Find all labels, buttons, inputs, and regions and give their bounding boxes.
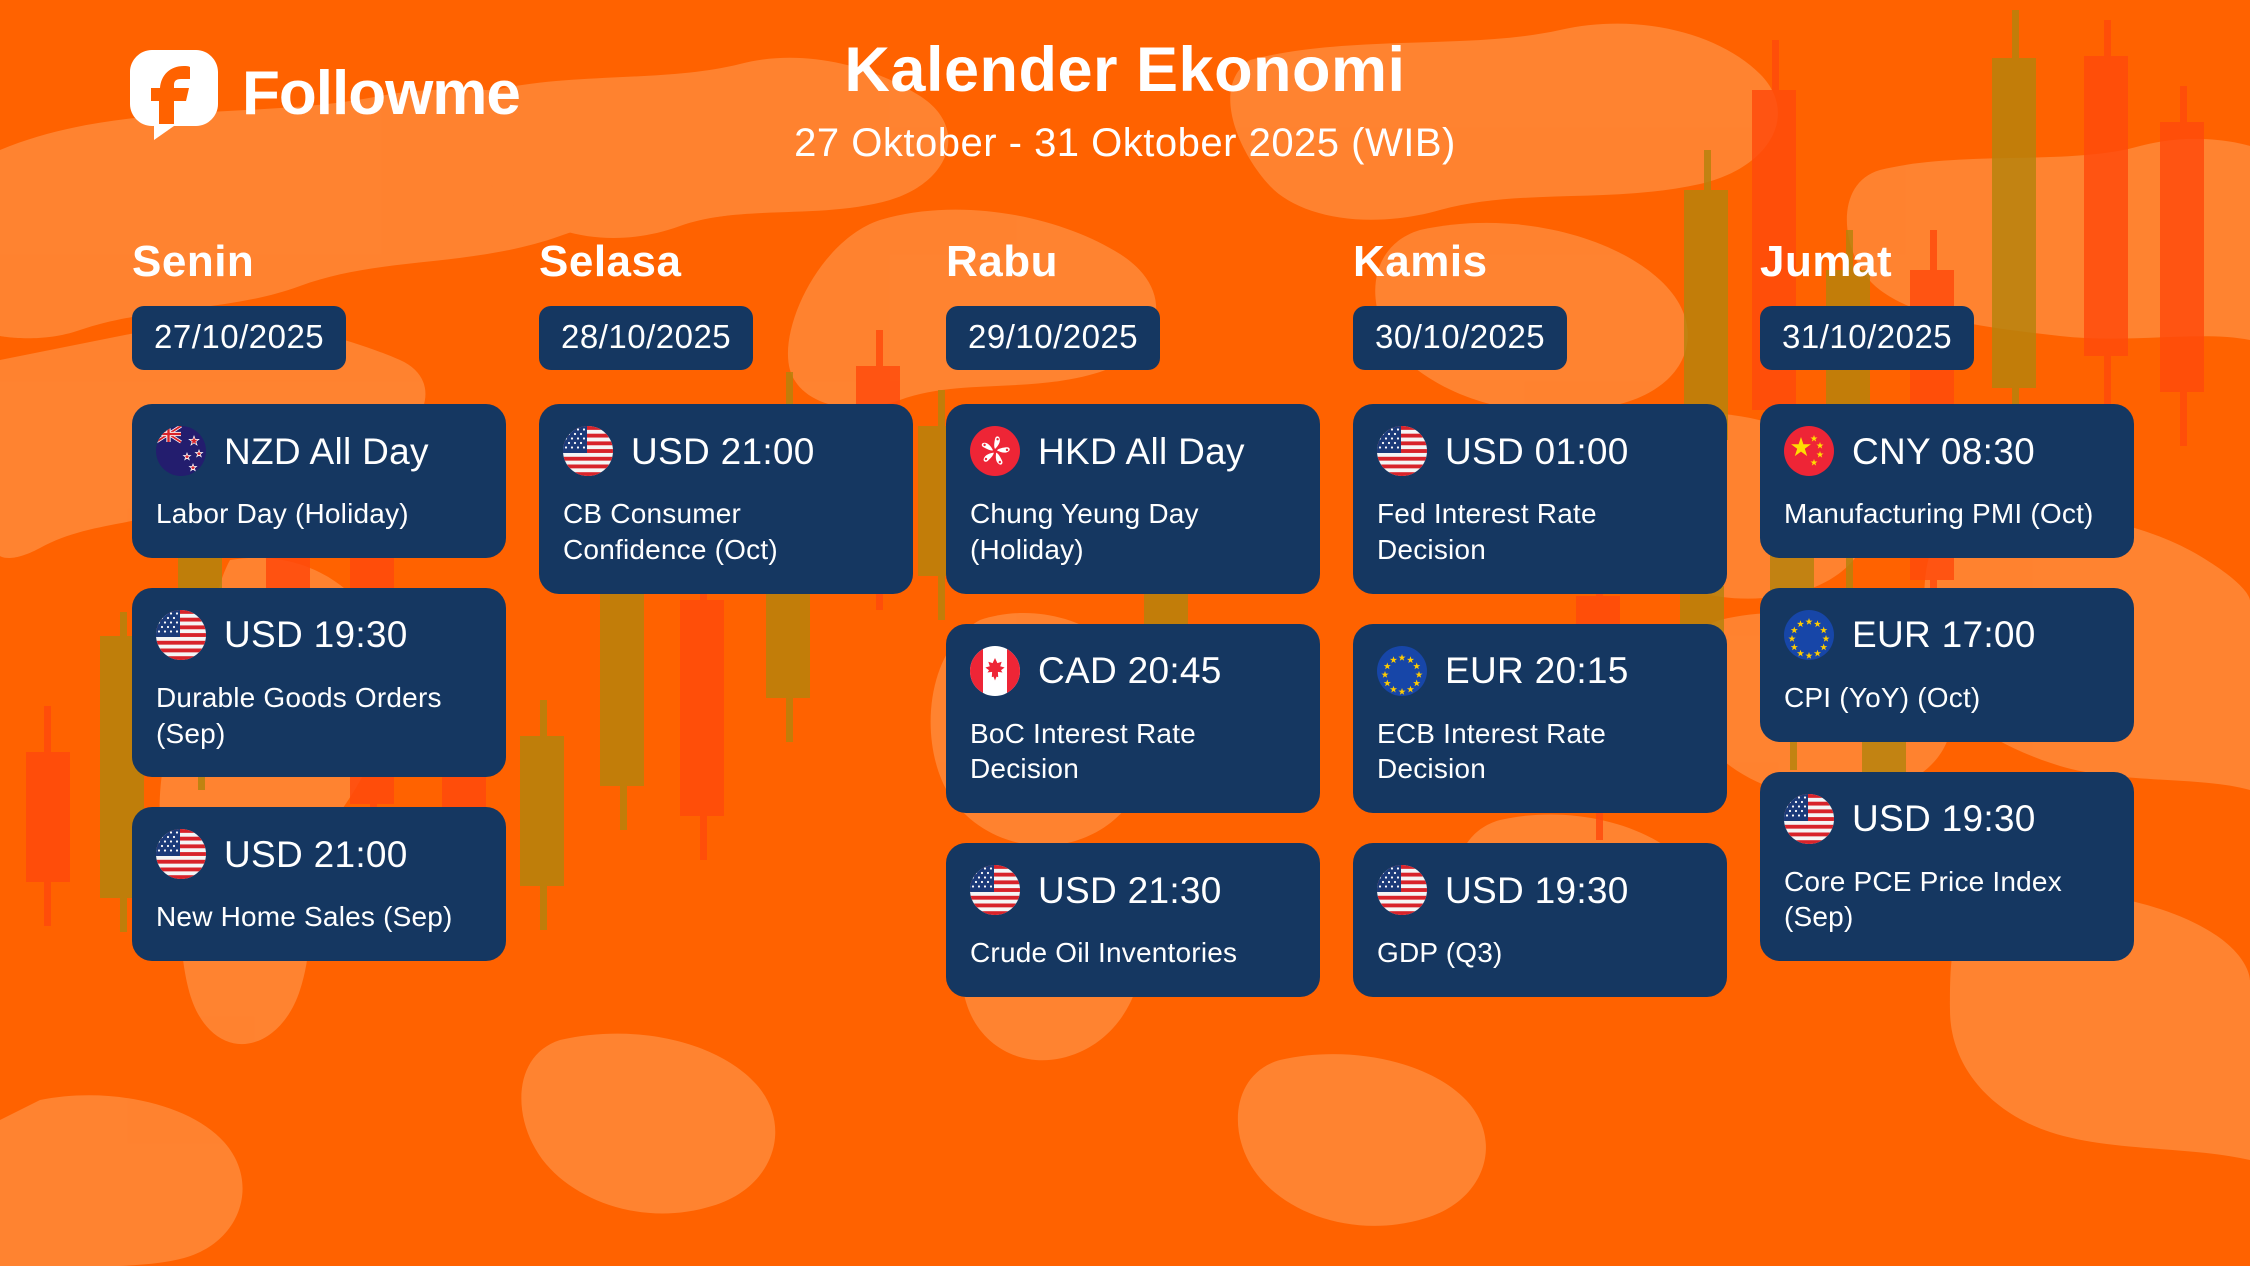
event-currency-time: USD 21:30 [1038, 872, 1222, 909]
event-currency-time: USD 19:30 [1852, 800, 2036, 837]
event-description: ECB Interest Rate Decision [1377, 716, 1703, 788]
event-description: Labor Day (Holiday) [156, 496, 482, 532]
usd-flag-icon [970, 865, 1020, 915]
usd-flag-icon [1377, 865, 1427, 915]
usd-flag-icon [1784, 794, 1834, 844]
day-name: Kamis [1353, 240, 1727, 284]
event-card[interactable]: USD 19:30GDP (Q3) [1353, 843, 1727, 997]
event-currency-time: USD 21:00 [631, 433, 815, 470]
usd-flag-icon [156, 610, 206, 660]
event-currency-time: EUR 20:15 [1445, 652, 1629, 689]
date-pill: 28/10/2025 [539, 306, 753, 370]
date-pill: 31/10/2025 [1760, 306, 1974, 370]
event-currency-time: HKD All Day [1038, 433, 1245, 470]
event-description: Core PCE Price Index (Sep) [1784, 864, 2110, 936]
event-description: Crude Oil Inventories [970, 935, 1296, 971]
event-description: BoC Interest Rate Decision [970, 716, 1296, 788]
event-card-header: USD 21:00 [156, 829, 482, 879]
title-block: Kalender Ekonomi 27 Oktober - 31 Oktober… [0, 36, 2250, 166]
event-currency-time: CNY 08:30 [1852, 433, 2035, 470]
day-name: Rabu [946, 240, 1320, 284]
event-description: CPI (YoY) (Oct) [1784, 680, 2110, 716]
event-card[interactable]: EUR 17:00CPI (YoY) (Oct) [1760, 588, 2134, 742]
event-card[interactable]: USD 01:00Fed Interest Rate Decision [1353, 404, 1727, 594]
event-card-header: USD 19:30 [1377, 865, 1703, 915]
eur-flag-icon [1377, 646, 1427, 696]
event-description: CB Consumer Confidence (Oct) [563, 496, 889, 568]
event-description: Chung Yeung Day (Holiday) [970, 496, 1296, 568]
event-card-header: EUR 20:15 [1377, 646, 1703, 696]
event-description: Manufacturing PMI (Oct) [1784, 496, 2110, 532]
day-name: Jumat [1760, 240, 2134, 284]
date-pill: 30/10/2025 [1353, 306, 1567, 370]
event-card[interactable]: CNY 08:30Manufacturing PMI (Oct) [1760, 404, 2134, 558]
date-pill: 29/10/2025 [946, 306, 1160, 370]
event-card[interactable]: USD 21:00New Home Sales (Sep) [132, 807, 506, 961]
day-column-selasa: Selasa28/10/2025USD 21:00CB Consumer Con… [539, 240, 913, 997]
event-card[interactable]: HKD All DayChung Yeung Day (Holiday) [946, 404, 1320, 594]
event-currency-time: NZD All Day [224, 433, 429, 470]
cny-flag-icon [1784, 426, 1834, 476]
event-card-list: USD 01:00Fed Interest Rate DecisionEUR 2… [1353, 404, 1727, 997]
day-name: Senin [132, 240, 506, 284]
day-column-jumat: Jumat31/10/2025CNY 08:30Manufacturing PM… [1760, 240, 2134, 997]
event-card-header: USD 21:30 [970, 865, 1296, 915]
event-card-header: CNY 08:30 [1784, 426, 2110, 476]
event-card-list: HKD All DayChung Yeung Day (Holiday)CAD … [946, 404, 1320, 997]
event-currency-time: USD 21:00 [224, 836, 408, 873]
event-description: Durable Goods Orders (Sep) [156, 680, 482, 752]
event-card[interactable]: EUR 20:15ECB Interest Rate Decision [1353, 624, 1727, 814]
event-card-list: NZD All DayLabor Day (Holiday)USD 19:30D… [132, 404, 506, 961]
event-card[interactable]: USD 21:30Crude Oil Inventories [946, 843, 1320, 997]
event-card[interactable]: USD 21:00CB Consumer Confidence (Oct) [539, 404, 913, 594]
usd-flag-icon [156, 829, 206, 879]
event-card[interactable]: CAD 20:45BoC Interest Rate Decision [946, 624, 1320, 814]
event-card[interactable]: USD 19:30Core PCE Price Index (Sep) [1760, 772, 2134, 962]
event-card-header: USD 19:30 [1784, 794, 2110, 844]
event-card-header: EUR 17:00 [1784, 610, 2110, 660]
event-currency-time: USD 01:00 [1445, 433, 1629, 470]
day-column-rabu: Rabu29/10/2025HKD All DayChung Yeung Day… [946, 240, 1320, 997]
date-pill: 27/10/2025 [132, 306, 346, 370]
hkd-flag-icon [970, 426, 1020, 476]
event-description: New Home Sales (Sep) [156, 899, 482, 935]
event-description: GDP (Q3) [1377, 935, 1703, 971]
event-card[interactable]: NZD All DayLabor Day (Holiday) [132, 404, 506, 558]
page-header: Followme Kalender Ekonomi 27 Oktober - 3… [0, 0, 2250, 240]
week-grid: Senin27/10/2025NZD All DayLabor Day (Hol… [0, 240, 2250, 997]
page-title: Kalender Ekonomi [0, 36, 2250, 105]
day-name: Selasa [539, 240, 913, 284]
eur-flag-icon [1784, 610, 1834, 660]
cad-flag-icon [970, 646, 1020, 696]
event-card-header: USD 01:00 [1377, 426, 1703, 476]
event-card-list: USD 21:00CB Consumer Confidence (Oct) [539, 404, 913, 594]
event-currency-time: EUR 17:00 [1852, 616, 2036, 653]
page-subtitle: 27 Oktober - 31 Oktober 2025 (WIB) [0, 121, 2250, 166]
usd-flag-icon [1377, 426, 1427, 476]
nzd-flag-icon [156, 426, 206, 476]
day-column-senin: Senin27/10/2025NZD All DayLabor Day (Hol… [132, 240, 506, 997]
day-column-kamis: Kamis30/10/2025USD 01:00Fed Interest Rat… [1353, 240, 1727, 997]
event-card-header: NZD All Day [156, 426, 482, 476]
event-currency-time: USD 19:30 [224, 616, 408, 653]
event-card-header: USD 19:30 [156, 610, 482, 660]
event-card-header: CAD 20:45 [970, 646, 1296, 696]
event-card[interactable]: USD 19:30Durable Goods Orders (Sep) [132, 588, 506, 778]
event-description: Fed Interest Rate Decision [1377, 496, 1703, 568]
usd-flag-icon [563, 426, 613, 476]
event-currency-time: CAD 20:45 [1038, 652, 1222, 689]
event-card-header: HKD All Day [970, 426, 1296, 476]
event-currency-time: USD 19:30 [1445, 872, 1629, 909]
event-card-list: CNY 08:30Manufacturing PMI (Oct)EUR 17:0… [1760, 404, 2134, 961]
event-card-header: USD 21:00 [563, 426, 889, 476]
